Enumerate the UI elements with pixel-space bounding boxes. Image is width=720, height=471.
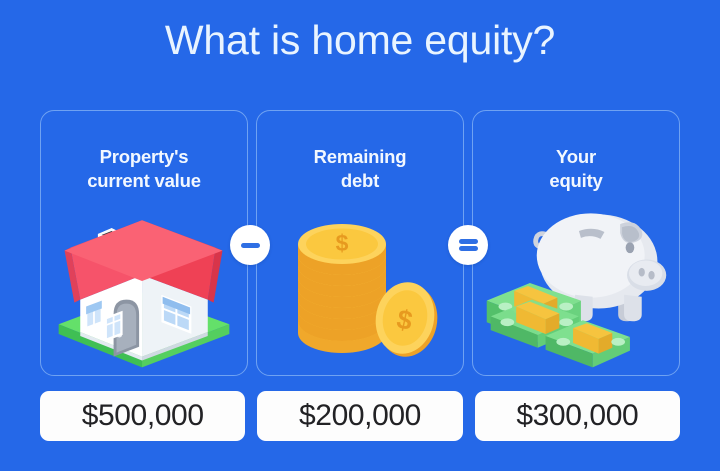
card-label-your-equity: Your equity: [473, 145, 679, 193]
equals-bar-bottom: [459, 246, 478, 251]
equals-operator-badge: [448, 225, 488, 265]
dollar-glyph: $: [336, 230, 349, 256]
card-label-line2: current value: [87, 170, 201, 191]
home-equity-infographic: What is home equity? Property's current …: [0, 0, 720, 471]
card-remaining-debt: Remaining debt: [256, 110, 464, 376]
card-label-line2: equity: [549, 170, 602, 191]
card-label-property-value: Property's current value: [41, 145, 247, 193]
card-label-line1: Property's: [100, 146, 189, 167]
piggy-bank-illustration: [473, 197, 679, 369]
house-illustration: [41, 197, 247, 369]
equals-icon: [459, 237, 478, 254]
value-box-property-value: $500,000: [40, 391, 245, 441]
minus-icon: [241, 243, 260, 248]
equals-bar-top: [459, 239, 478, 244]
minus-operator-badge: [230, 225, 270, 265]
values-row: $500,000 $200,000 $300,000: [40, 391, 680, 441]
coin-stack: $: [298, 224, 386, 353]
value-box-your-equity: $300,000: [475, 391, 680, 441]
page-title: What is home equity?: [0, 14, 720, 66]
card-label-line2: debt: [341, 170, 379, 191]
cards-row: Property's current value: [40, 110, 680, 376]
card-label-line1: Remaining: [314, 146, 407, 167]
value-box-remaining-debt: $200,000: [257, 391, 462, 441]
card-property-value: Property's current value: [40, 110, 248, 376]
card-label-remaining-debt: Remaining debt: [257, 145, 463, 193]
card-label-line1: Your: [556, 146, 596, 167]
coin-stack-illustration: $ $: [257, 197, 463, 369]
card-your-equity: Your equity: [472, 110, 680, 376]
